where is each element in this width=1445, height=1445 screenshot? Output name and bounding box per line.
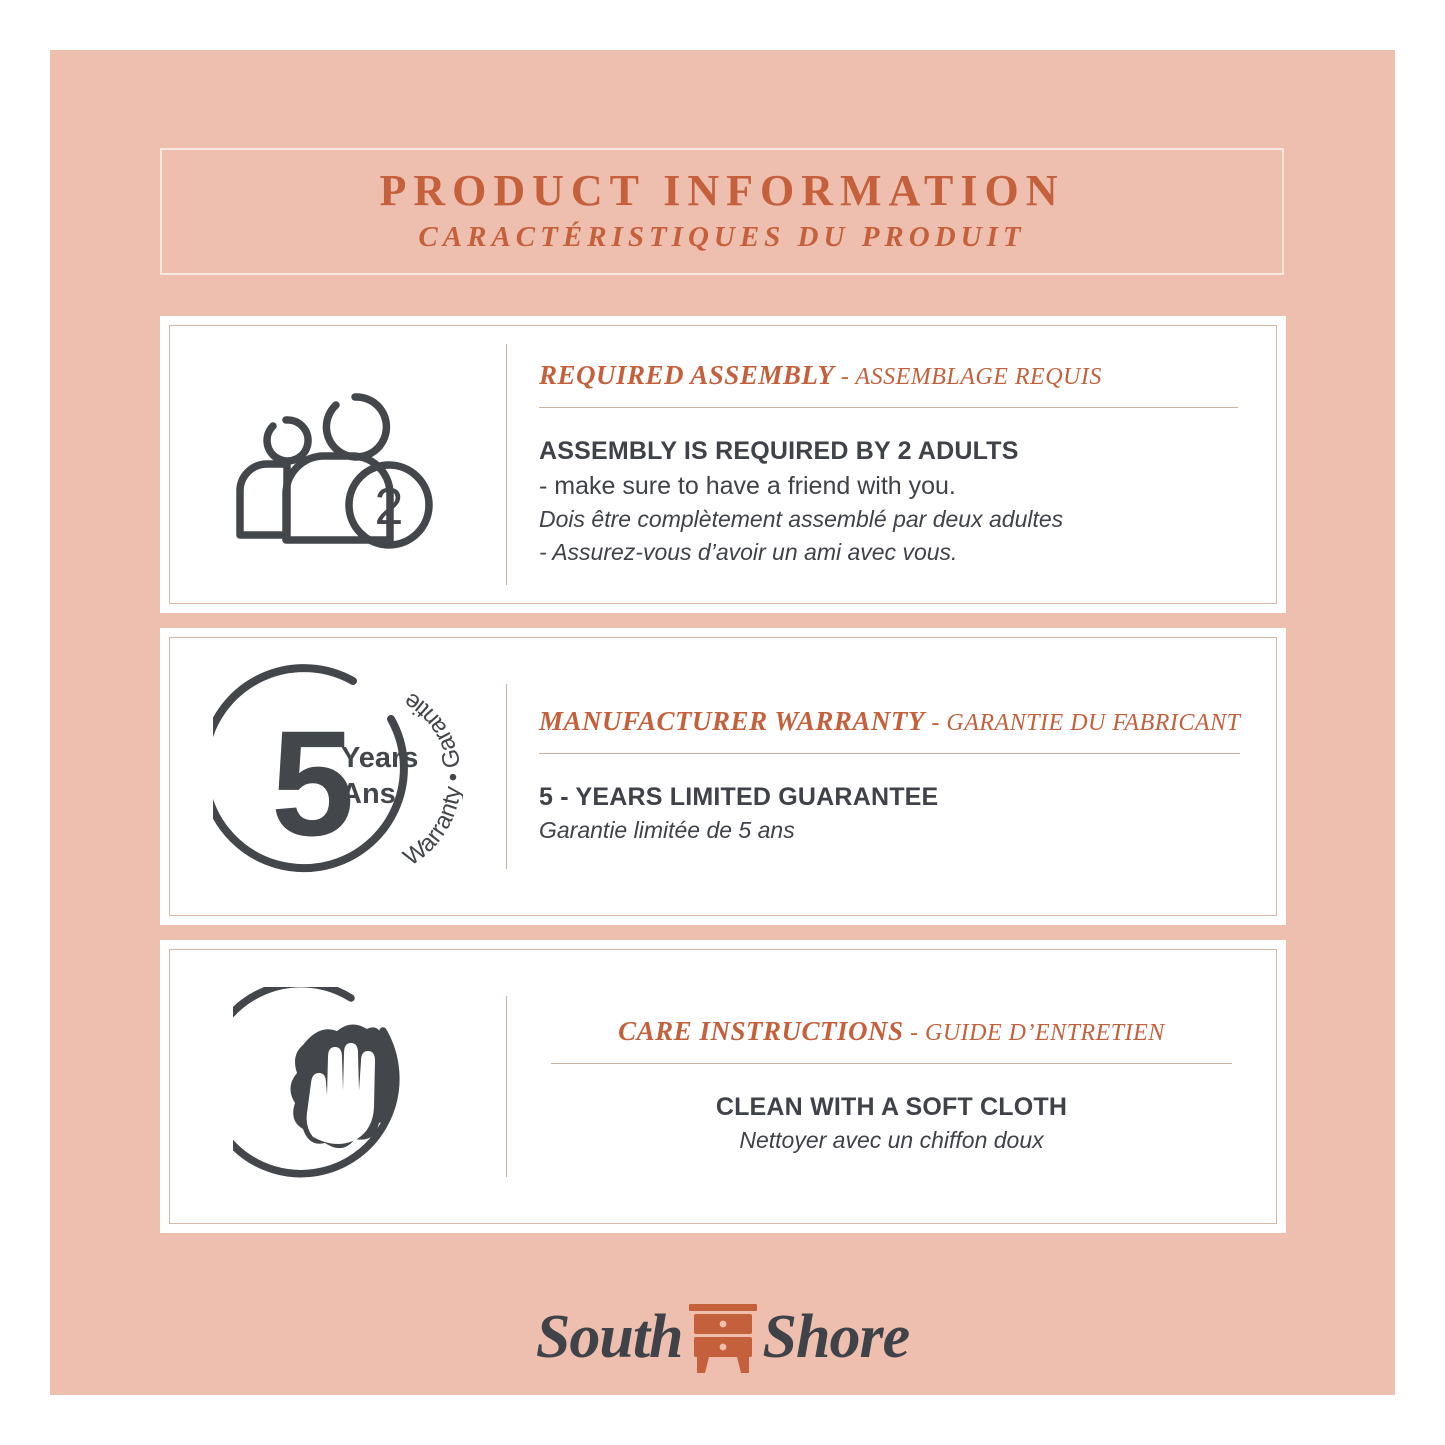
care-body-line1: CLEAN WITH A SOFT CLOTH [551,1090,1232,1125]
care-section-title: CARE INSTRUCTIONS - GUIDE D’ENTRETIEN [551,1016,1232,1047]
warranty-body-line1: 5 - YEARS LIMITED GUARANTEE [539,780,1240,815]
card-care-instructions: CARE INSTRUCTIONS - GUIDE D’ENTRETIEN CL… [160,940,1286,1233]
page-title: PRODUCT INFORMATION [379,168,1064,214]
product-information-panel: PRODUCT INFORMATION CARACTÉRISTIQUES DU … [50,50,1395,1395]
warranty-curved-caption: Warranty • Garantie [398,686,463,870]
care-title-separator: - [904,1020,926,1046]
hand-with-cloth-icon [233,987,443,1187]
five-year-warranty-badge-icon: 5 Years Ans Warranty • Garantie [213,657,463,897]
assembly-body-line3: Dois être complètement assemblé par deux… [539,503,1238,536]
assembly-title-fr: ASSEMBLAGE REQUIS [855,364,1101,390]
care-title-en: CARE INSTRUCTIONS [618,1016,903,1046]
assembly-title-separator: - [834,364,855,390]
assembly-title-en: REQUIRED ASSEMBLY [539,360,834,390]
warranty-rule [539,753,1240,754]
warranty-years-label-fr: Ans [341,778,396,810]
assembly-body-line2: - make sure to have a friend with you. [539,469,1238,504]
assembly-count-badge-label: 2 [374,478,403,536]
nightstand-icon [687,1300,759,1374]
assembly-section-title: REQUIRED ASSEMBLY - ASSEMBLAGE REQUIS [539,360,1238,391]
logo-word-south: South [536,1302,683,1373]
card-inner-border: CARE INSTRUCTIONS - GUIDE D’ENTRETIEN CL… [169,949,1277,1224]
two-people-icon: 2 [226,372,451,557]
south-shore-logo: South Shore [50,1282,1395,1392]
warranty-title-fr: GARANTIE DU FABRICANT [946,710,1240,736]
warranty-title-separator: - [925,710,947,736]
care-body-line2: Nettoyer avec un chiffon doux [551,1124,1232,1157]
assembly-icon-cell: 2 [170,372,506,557]
warranty-body-line2: Garantie limitée de 5 ans [539,814,1240,847]
card-required-assembly: 2 REQUIRED ASSEMBLY - ASSEMBLAGE REQUIS … [160,316,1286,613]
care-text-cell: CARE INSTRUCTIONS - GUIDE D’ENTRETIEN CL… [507,1016,1276,1157]
assembly-body-line4: - Assurez-vous d’avoir un ami avec vous. [539,536,1238,569]
card-manufacturer-warranty: 5 Years Ans Warranty • Garantie MANUFACT… [160,628,1286,925]
logo-word-shore: Shore [763,1302,910,1373]
warranty-icon-cell: 5 Years Ans Warranty • Garantie [170,657,506,897]
assembly-rule [539,407,1238,408]
warranty-section-title: MANUFACTURER WARRANTY - GARANTIE DU FABR… [539,706,1240,737]
warranty-years-label-en: Years [341,742,418,774]
care-icon-cell [170,987,506,1187]
page-subtitle-french: CARACTÉRISTIQUES DU PRODUIT [418,220,1025,255]
assembly-text-cell: REQUIRED ASSEMBLY - ASSEMBLAGE REQUIS AS… [507,360,1276,568]
care-title-fr: GUIDE D’ENTRETIEN [925,1020,1165,1046]
card-inner-border: 2 REQUIRED ASSEMBLY - ASSEMBLAGE REQUIS … [169,325,1277,604]
warranty-title-en: MANUFACTURER WARRANTY [539,706,925,736]
assembly-body-line1: ASSEMBLY IS REQUIRED BY 2 ADULTS [539,434,1238,469]
header-box: PRODUCT INFORMATION CARACTÉRISTIQUES DU … [160,148,1284,275]
warranty-text-cell: MANUFACTURER WARRANTY - GARANTIE DU FABR… [507,706,1278,847]
care-rule [551,1063,1232,1064]
card-inner-border: 5 Years Ans Warranty • Garantie MANUFACT… [169,637,1277,916]
